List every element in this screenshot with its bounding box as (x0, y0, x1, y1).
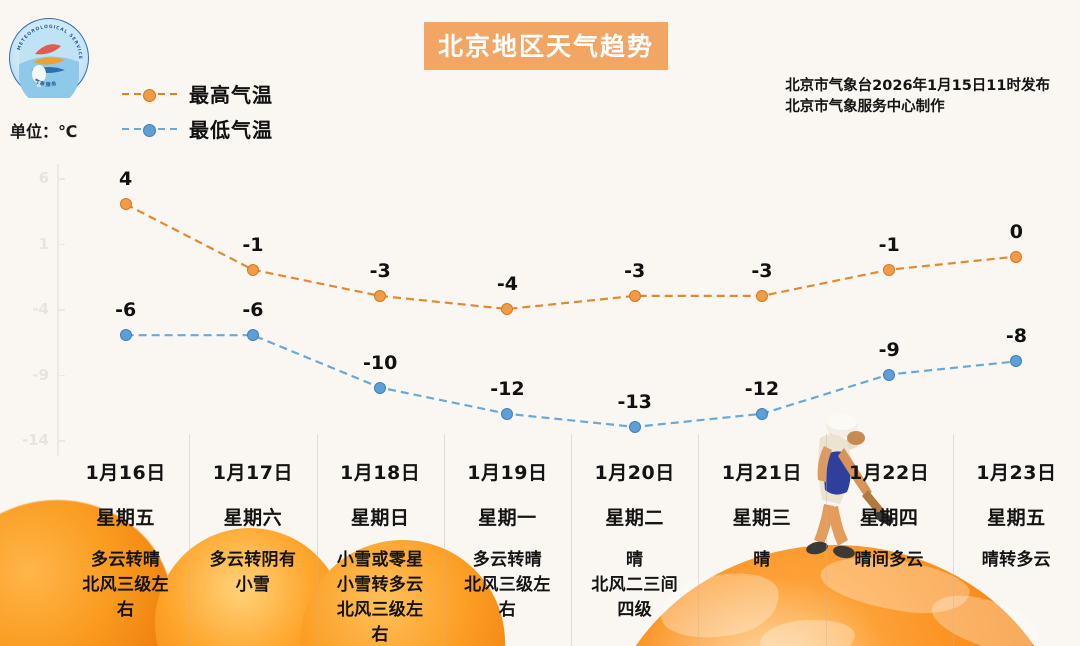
day-weather-description: 多云转晴北风三级左右 (62, 548, 189, 623)
min-temp-point (1010, 355, 1022, 367)
day-weather-description: 晴间多云 (826, 548, 953, 573)
max-temp-label: -1 (242, 234, 263, 256)
day-weather-description: 多云转阴有小雪 (189, 548, 316, 598)
day-column: 1月22日星期四晴间多云 (826, 448, 953, 646)
day-weekday: 星期四 (826, 503, 953, 530)
day-weekday: 星期二 (571, 503, 698, 530)
day-weekday: 星期一 (444, 503, 571, 530)
min-temp-label: -8 (1006, 325, 1027, 347)
day-weather-description: 多云转晴北风三级左右 (444, 548, 571, 623)
day-column: 1月16日星期五多云转晴北风三级左右 (62, 448, 189, 646)
day-date: 1月21日 (698, 458, 825, 485)
max-temp-label: 4 (119, 168, 132, 190)
day-date: 1月16日 (62, 458, 189, 485)
max-temp-point (629, 290, 641, 302)
day-weather-description: 小雪或零星小雪转多云北风三级左右 (317, 548, 444, 646)
day-column: 1月23日星期五晴转多云 (953, 448, 1080, 646)
day-weekday: 星期五 (953, 503, 1080, 530)
day-date: 1月17日 (189, 458, 316, 485)
min-temp-label: -10 (363, 352, 397, 374)
min-temp-label: -12 (490, 378, 524, 400)
max-temp-label: -4 (497, 273, 518, 295)
min-temp-point (247, 329, 259, 341)
day-column: 1月17日星期六多云转阴有小雪 (189, 448, 316, 646)
day-date: 1月18日 (317, 458, 444, 485)
max-temp-point (120, 198, 132, 210)
min-temp-label: -6 (115, 299, 136, 321)
max-temp-point (756, 290, 768, 302)
max-temp-point (1010, 251, 1022, 263)
max-temp-label: 0 (1010, 221, 1023, 243)
min-temp-point (883, 369, 895, 381)
min-temp-point (374, 382, 386, 394)
min-temp-label: -9 (879, 339, 900, 361)
day-column: 1月19日星期一多云转晴北风三级左右 (444, 448, 571, 646)
day-date: 1月20日 (571, 458, 698, 485)
max-temp-label: -3 (751, 260, 772, 282)
day-weekday: 星期三 (698, 503, 825, 530)
max-temp-label: -1 (879, 234, 900, 256)
day-weekday: 星期六 (189, 503, 316, 530)
min-temp-point (629, 421, 641, 433)
max-temp-point (247, 264, 259, 276)
series-line (126, 204, 1017, 309)
day-date: 1月19日 (444, 458, 571, 485)
day-weekday: 星期五 (62, 503, 189, 530)
day-column: 1月21日星期三晴 (698, 448, 825, 646)
day-weather-description: 晴北风二三间四级 (571, 548, 698, 623)
day-columns: 1月16日星期五多云转晴北风三级左右1月17日星期六多云转阴有小雪1月18日星期… (62, 448, 1080, 646)
day-date: 1月23日 (953, 458, 1080, 485)
weather-trend-infographic: METEOROLOGICAL SERVICE 气象服务 北京地区天气趋势 北京市… (0, 0, 1080, 646)
day-column: 1月18日星期日小雪或零星小雪转多云北风三级左右 (317, 448, 444, 646)
min-temp-label: -6 (242, 299, 263, 321)
max-temp-point (883, 264, 895, 276)
day-column: 1月20日星期二晴北风二三间四级 (571, 448, 698, 646)
min-temp-label: -12 (745, 378, 779, 400)
min-temp-label: -13 (617, 391, 651, 413)
day-date: 1月22日 (826, 458, 953, 485)
max-temp-point (374, 290, 386, 302)
min-temp-point (756, 408, 768, 420)
min-temp-point (501, 408, 513, 420)
min-temp-point (120, 329, 132, 341)
day-weather-description: 晴转多云 (953, 548, 1080, 573)
max-temp-label: -3 (370, 260, 391, 282)
day-weather-description: 晴 (698, 548, 825, 573)
max-temp-point (501, 303, 513, 315)
max-temp-label: -3 (624, 260, 645, 282)
day-weekday: 星期日 (317, 503, 444, 530)
